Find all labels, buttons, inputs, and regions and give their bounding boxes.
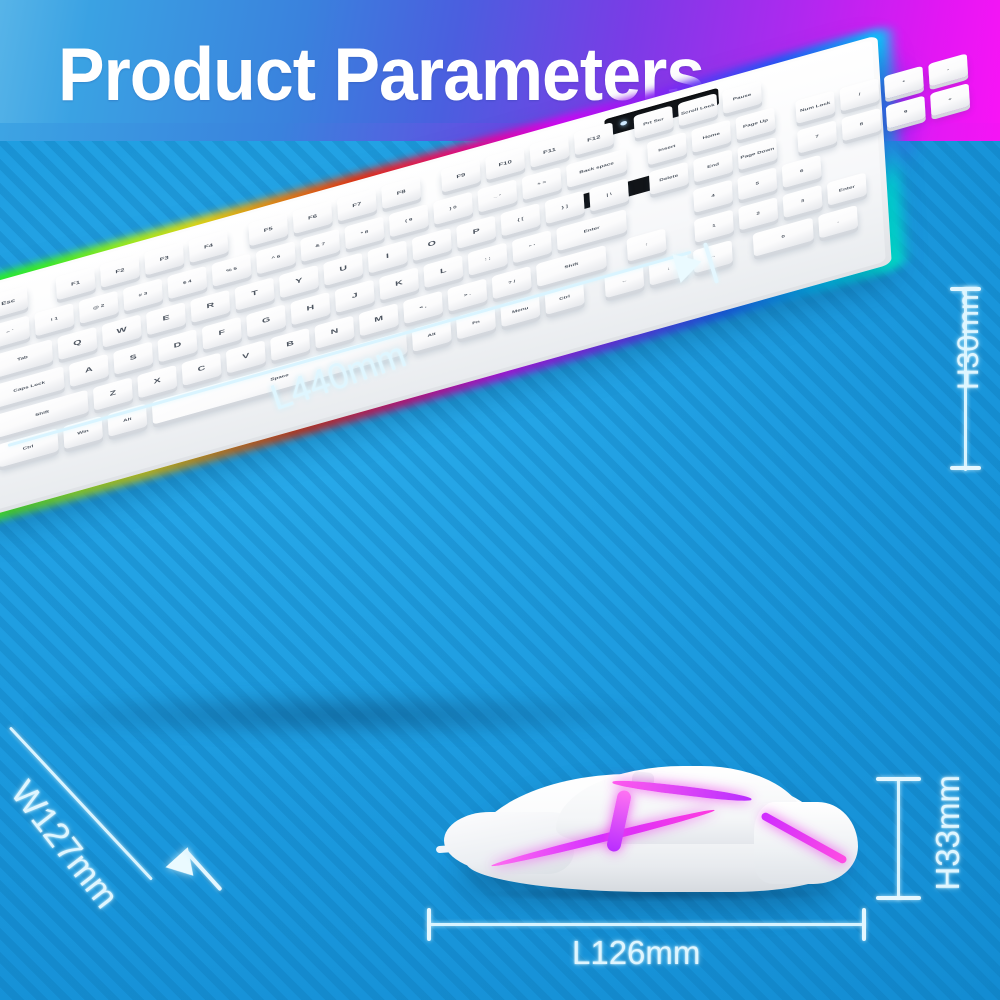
mouse-front-buttons: [444, 812, 574, 874]
dimension-tick-mouse-height-bottom: [876, 896, 921, 900]
keyboard-drop-shadow: [20, 690, 660, 740]
product-parameters-infographic: Product Parameters Esc F1 F2 F3 F4: [0, 0, 1000, 1000]
dimension-tick-keyboard-height-bottom: [950, 466, 981, 470]
dimension-line-mouse-height: [897, 779, 900, 900]
dimension-label-keyboard-height: H30mm: [952, 285, 986, 390]
dimension-tick-mouse-height-top: [876, 777, 921, 781]
mouse-illustration: [436, 760, 866, 910]
dimension-label-mouse-length: L126mm: [572, 934, 700, 972]
dimension-label-mouse-height: H33mm: [929, 775, 967, 891]
dimension-tick-mouse-length-left: [427, 908, 431, 941]
dimension-line-mouse-length: [428, 923, 865, 926]
dimension-tick-mouse-length-right: [862, 908, 866, 941]
page-title: Product Parameters: [58, 34, 704, 114]
